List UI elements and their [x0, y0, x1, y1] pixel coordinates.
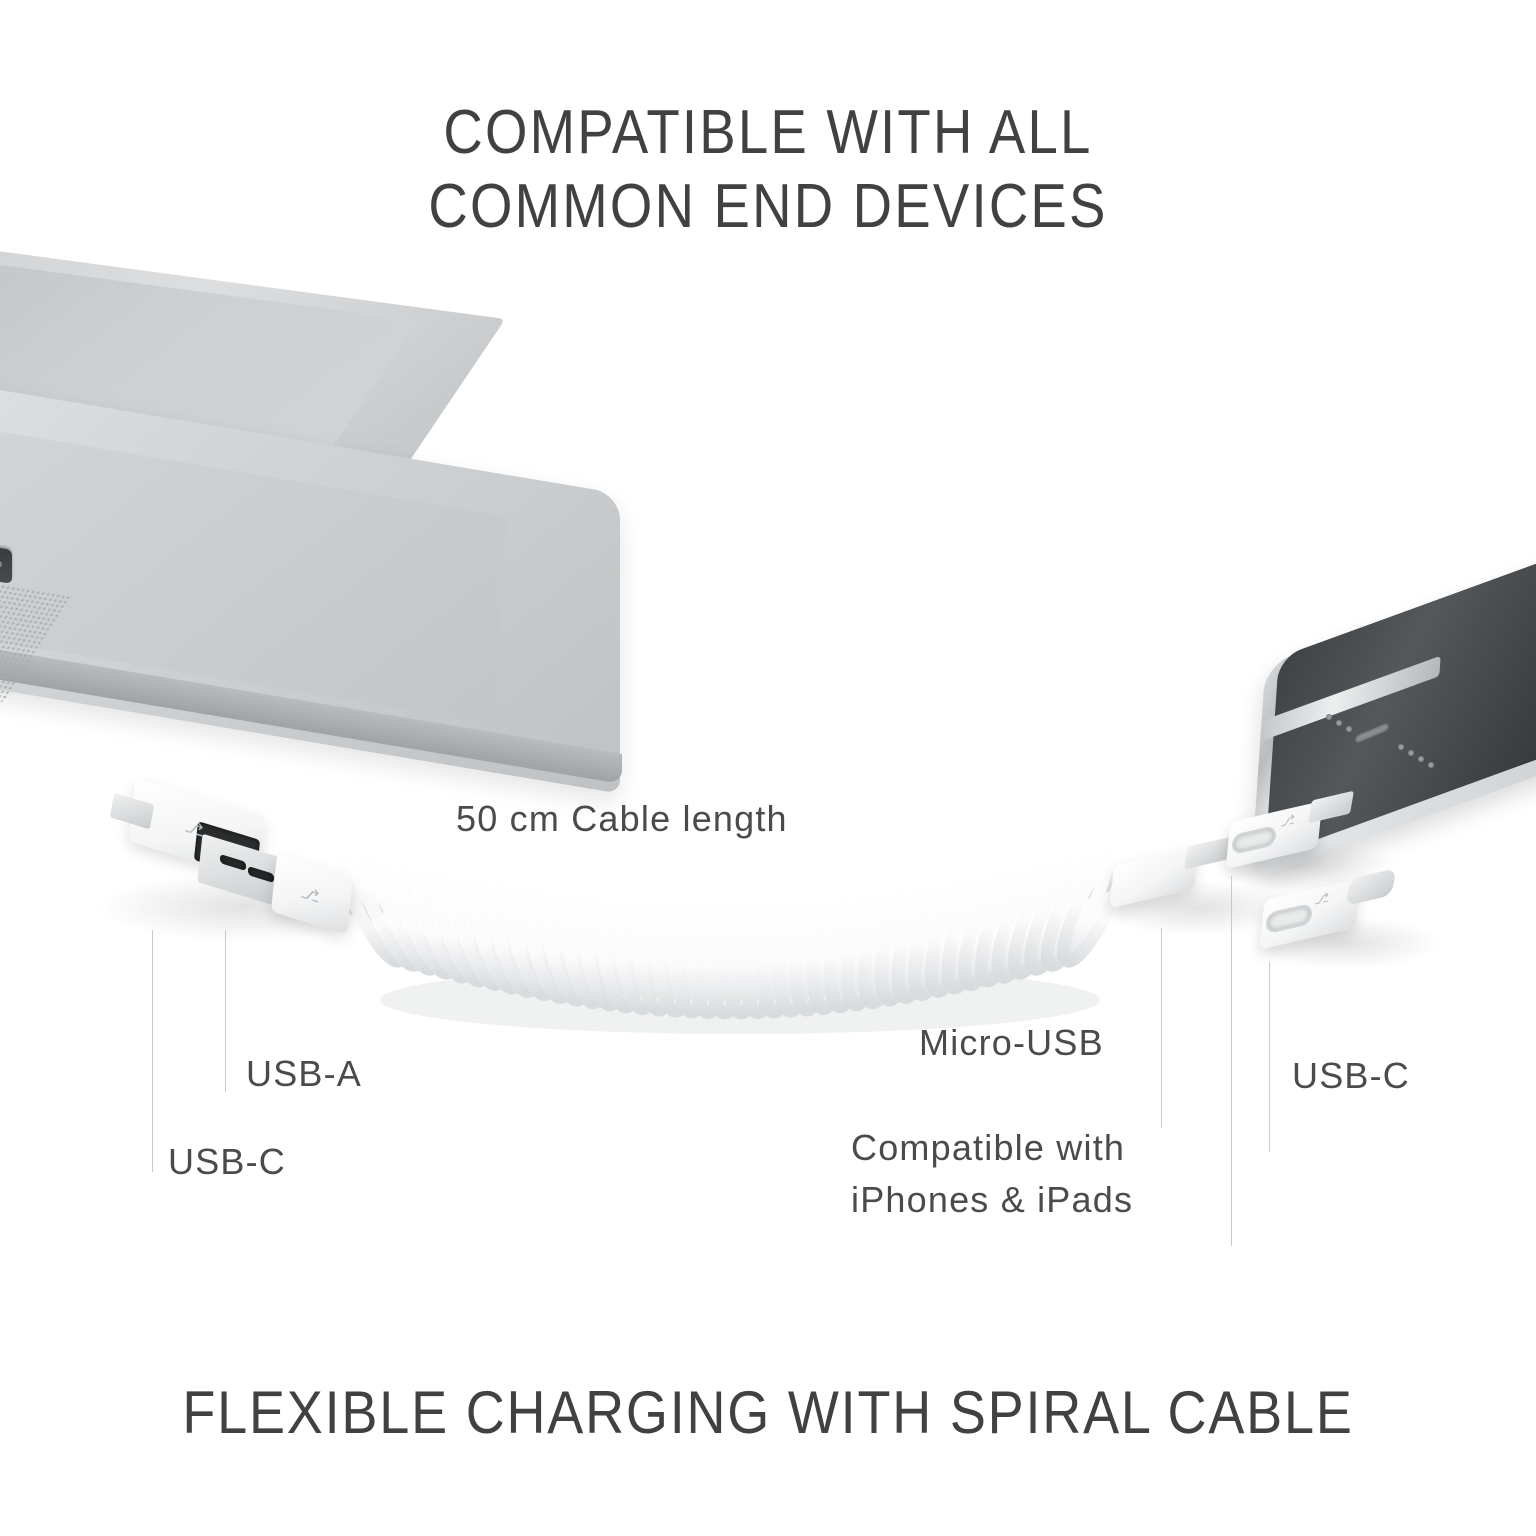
leader-line-micro-usb	[1161, 928, 1162, 1128]
micro-usb-to-usb-c-adapter: ⎇	[1256, 864, 1416, 968]
leader-line-usb-c-right	[1269, 962, 1270, 1152]
usb-trident-icon: ⎇	[1314, 890, 1329, 906]
label-micro-usb: Micro-USB	[919, 1022, 1104, 1064]
leader-line-usb-c-left	[152, 930, 153, 1172]
phone-speaker-hole	[1418, 756, 1424, 762]
usb-trident-icon: ⎇	[1280, 812, 1295, 828]
phone-speaker-hole	[1428, 762, 1434, 768]
label-iphone-compatibility: Compatible with iPhones & iPads	[851, 1122, 1133, 1226]
phone-speaker-hole	[1346, 726, 1352, 732]
leader-line-iphone-compat	[1231, 876, 1232, 1246]
label-usb-a: USB-A	[246, 1053, 362, 1095]
footer-tagline: FLEXIBLE CHARGING WITH SPIRAL CABLE	[77, 1378, 1459, 1447]
product-image-canvas: COMPATIBLE WITH ALL COMMON END DEVICES c…	[0, 0, 1536, 1536]
label-usb-c-left: USB-C	[168, 1141, 286, 1183]
phone-speaker-hole	[1398, 744, 1404, 750]
leader-line-usb-a	[225, 930, 226, 1092]
page-title: COMPATIBLE WITH ALL COMMON END DEVICES	[92, 96, 1444, 244]
phone-speaker-hole	[1326, 714, 1332, 720]
label-cable-length: 50 cm Cable length	[456, 798, 788, 840]
phone-speaker-hole	[1408, 750, 1414, 756]
label-usb-c-right: USB-C	[1292, 1055, 1410, 1097]
phone-speaker-hole	[1336, 720, 1342, 726]
macbook-laptop: command option control shift caps lock t…	[0, 276, 680, 836]
